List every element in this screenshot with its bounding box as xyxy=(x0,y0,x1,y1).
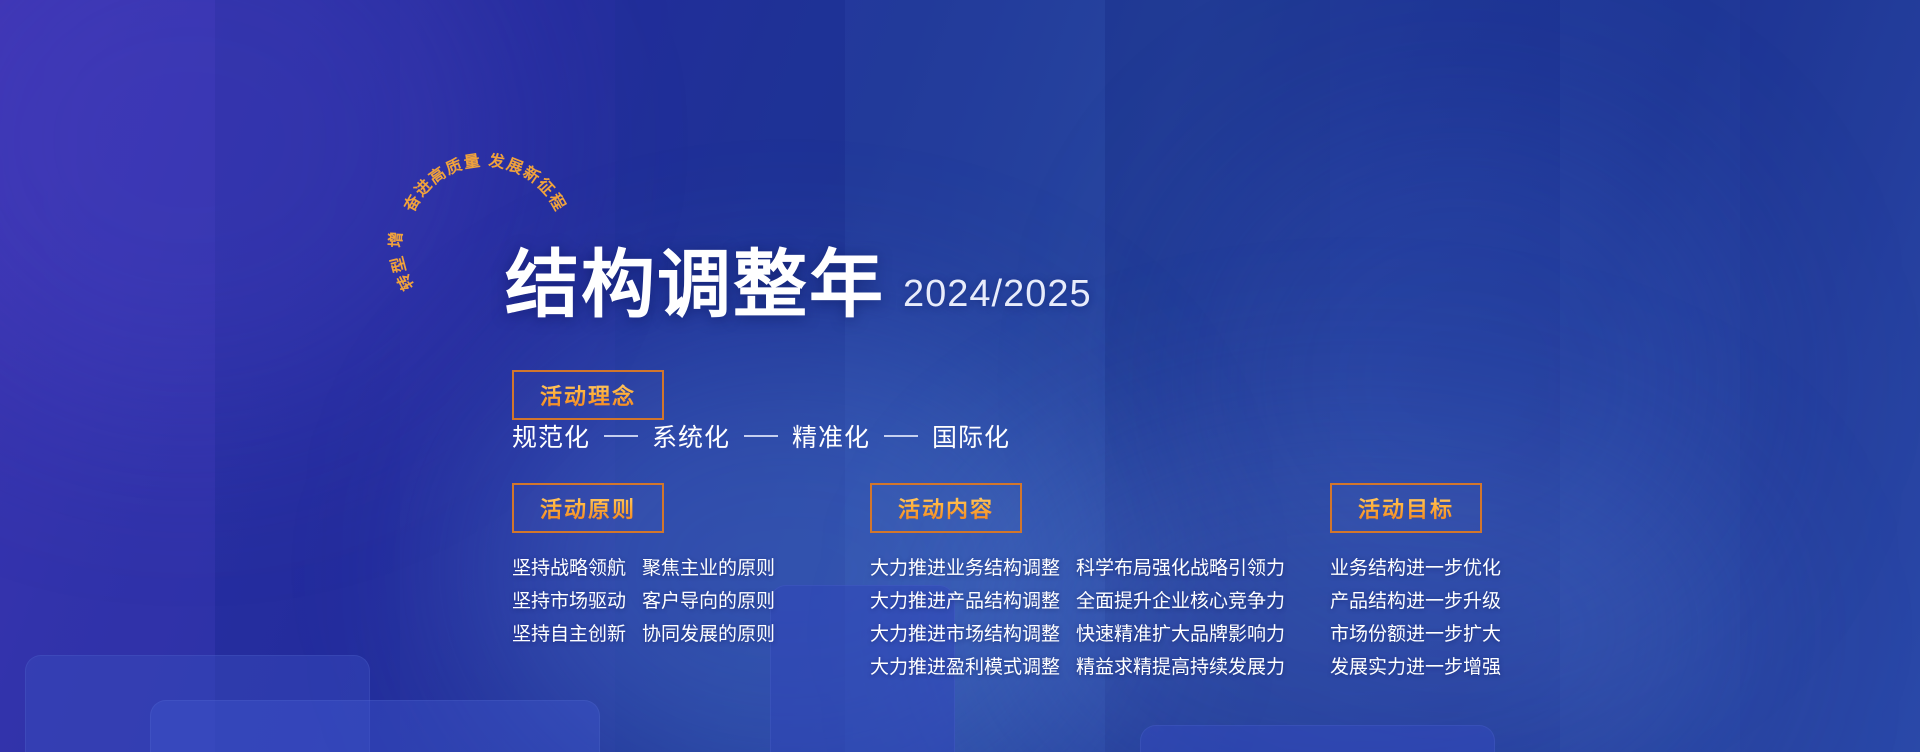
concept-item: 系统化 xyxy=(652,418,730,454)
list-item: 坚持战略领航 聚焦主业的原则 xyxy=(512,555,775,583)
list-item: 坚持自主创新 协同发展的原则 xyxy=(512,621,775,649)
concept-divider xyxy=(884,435,918,437)
list-item-left: 坚持战略领航 xyxy=(512,555,626,583)
decorative-block xyxy=(1140,725,1495,752)
list-item-left: 市场份额进一步扩大 xyxy=(1330,621,1501,649)
list-item-left: 大力推进产品结构调整 xyxy=(870,588,1060,616)
concept-item: 规范化 xyxy=(512,418,590,454)
list-item-left: 业务结构进一步优化 xyxy=(1330,555,1501,583)
list-item-left: 大力推进盈利模式调整 xyxy=(870,654,1060,682)
concept-item: 国际化 xyxy=(932,418,1010,454)
list-item-left: 产品结构进一步升级 xyxy=(1330,588,1501,616)
list-item-right: 精益求精提高持续发展力 xyxy=(1076,654,1285,682)
list-item: 业务结构进一步优化 xyxy=(1330,555,1501,583)
column-principles: 活动原则 坚持战略领航 聚焦主业的原则 坚持市场驱动 客户导向的原则 坚持自主创… xyxy=(512,483,775,654)
list-item: 市场份额进一步扩大 xyxy=(1330,621,1501,649)
list-item-right: 快速精准扩大品牌影响力 xyxy=(1076,621,1285,649)
page-title: 结构调整年 xyxy=(505,248,885,322)
concept-row: 规范化 系统化 精准化 国际化 xyxy=(512,418,1010,454)
list-item-right: 协同发展的原则 xyxy=(642,621,775,649)
list-item: 产品结构进一步升级 xyxy=(1330,588,1501,616)
list-item: 大力推进市场结构调整 快速精准扩大品牌影响力 xyxy=(870,621,1285,649)
list-item-left: 大力推进市场结构调整 xyxy=(870,621,1060,649)
concept-divider xyxy=(744,435,778,437)
badge-concept-label: 活动理念 xyxy=(540,379,636,411)
list-item: 坚持市场驱动 客户导向的原则 xyxy=(512,588,775,616)
list-item: 大力推进盈利模式调整 精益求精提高持续发展力 xyxy=(870,654,1285,682)
column-goals: 活动目标 业务结构进一步优化 产品结构进一步升级 市场份额进一步扩大 发展实力进… xyxy=(1330,483,1501,687)
content-lines: 大力推进业务结构调整 科学布局强化战略引领力 大力推进产品结构调整 全面提升企业… xyxy=(870,555,1285,682)
list-item-right: 聚焦主业的原则 xyxy=(642,555,775,583)
list-item-left: 坚持自主创新 xyxy=(512,621,626,649)
badge-goals: 活动目标 xyxy=(1330,483,1482,533)
list-item-right: 全面提升企业核心竞争力 xyxy=(1076,588,1285,616)
goals-lines: 业务结构进一步优化 产品结构进一步升级 市场份额进一步扩大 发展实力进一步增强 xyxy=(1330,555,1501,682)
list-item-left: 发展实力进一步增强 xyxy=(1330,654,1501,682)
badge-content-label: 活动内容 xyxy=(898,492,994,524)
badge-principles-label: 活动原则 xyxy=(540,492,636,524)
badge-concept: 活动理念 xyxy=(512,370,664,420)
badge-content: 活动内容 xyxy=(870,483,1022,533)
column-content: 活动内容 大力推进业务结构调整 科学布局强化战略引领力 大力推进产品结构调整 全… xyxy=(870,483,1285,687)
concept-item: 精准化 xyxy=(792,418,870,454)
concept-divider xyxy=(604,435,638,437)
list-item: 发展实力进一步增强 xyxy=(1330,654,1501,682)
list-item: 大力推进产品结构调整 全面提升企业核心竞争力 xyxy=(870,588,1285,616)
poster-canvas: 奋进高质量 发展新征程 加码转型 增动能 结构调整年 2024/2025 活动理… xyxy=(0,0,1920,752)
list-item-right: 客户导向的原则 xyxy=(642,588,775,616)
headline-group: 结构调整年 2024/2025 xyxy=(505,248,1092,322)
list-item-left: 坚持市场驱动 xyxy=(512,588,626,616)
badge-principles: 活动原则 xyxy=(512,483,664,533)
decorative-block xyxy=(150,700,600,752)
list-item-right: 科学布局强化战略引领力 xyxy=(1076,555,1285,583)
year-label: 2024/2025 xyxy=(903,273,1092,322)
principles-lines: 坚持战略领航 聚焦主业的原则 坚持市场驱动 客户导向的原则 坚持自主创新 协同发… xyxy=(512,555,775,649)
list-item-left: 大力推进业务结构调整 xyxy=(870,555,1060,583)
list-item: 大力推进业务结构调整 科学布局强化战略引领力 xyxy=(870,555,1285,583)
emblem-arc-top-text: 奋进高质量 发展新征程 xyxy=(399,151,569,216)
badge-goals-label: 活动目标 xyxy=(1358,492,1454,524)
